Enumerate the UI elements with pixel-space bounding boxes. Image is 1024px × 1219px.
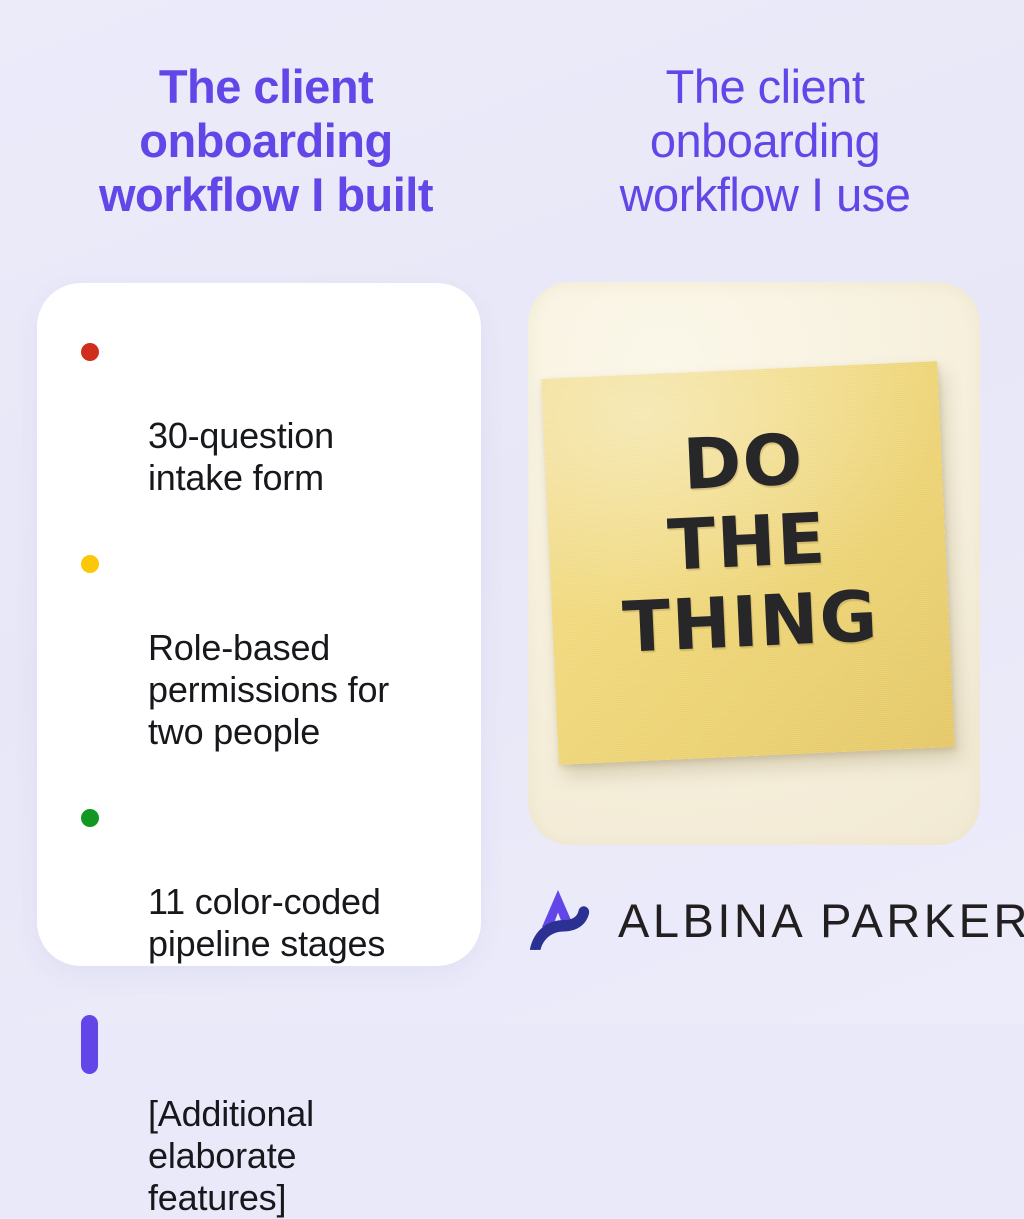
brand-name: ALBINA PARKER bbox=[618, 893, 1024, 948]
list-item: [Additional elaborate features] bbox=[71, 1009, 461, 1219]
poster-canvas: The client onboarding workflow I built T… bbox=[0, 0, 1024, 1024]
heading-left: The client onboarding workflow I built bbox=[24, 60, 508, 222]
list-item-label: [Additional elaborate features] bbox=[148, 1093, 314, 1218]
bullet-dot-icon bbox=[81, 809, 99, 827]
list-item-label: 30-question intake form bbox=[148, 415, 334, 498]
list-item-label: 11 color-coded pipeline stages bbox=[148, 881, 385, 964]
sticky-note-text: DO THE THING bbox=[544, 413, 950, 671]
bullet-dot-icon bbox=[81, 343, 99, 361]
list-item-label: Role-based permissions for two people bbox=[148, 627, 389, 752]
feature-list: 30-question intake form Role-based permi… bbox=[71, 331, 461, 1219]
heading-right: The client onboarding workflow I use bbox=[520, 60, 1010, 222]
list-item: 30-question intake form bbox=[71, 331, 461, 499]
list-item: 11 color-coded pipeline stages bbox=[71, 797, 461, 965]
bullet-dot-icon bbox=[81, 555, 99, 573]
feature-card: 30-question intake form Role-based permi… bbox=[37, 283, 481, 966]
sticky-note: DO THE THING bbox=[541, 361, 954, 765]
brand-lockup: ALBINA PARKER bbox=[522, 884, 1024, 956]
list-item: Role-based permissions for two people bbox=[71, 543, 461, 753]
albina-parker-a-logo-icon bbox=[522, 884, 594, 956]
note-card: DO THE THING bbox=[528, 282, 980, 845]
